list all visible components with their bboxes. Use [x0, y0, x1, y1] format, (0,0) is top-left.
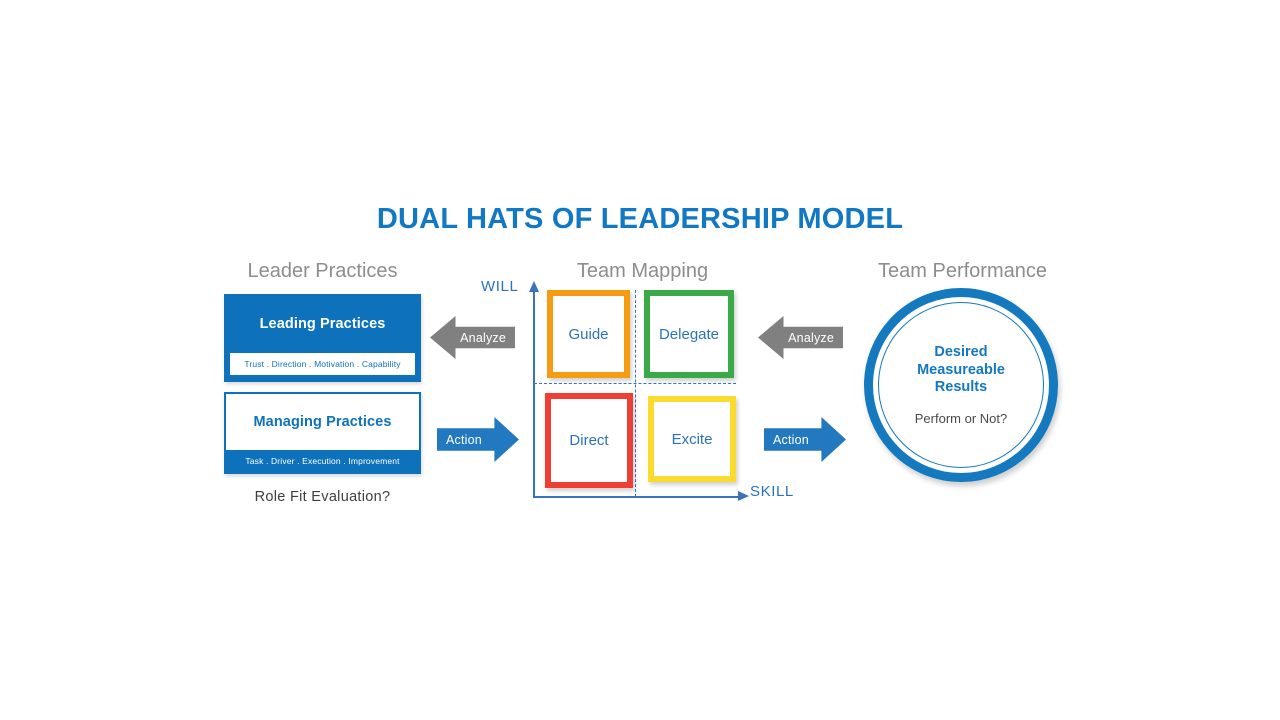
card-managing-practices[interactable]: Managing Practices Task . Driver . Execu… [224, 392, 421, 474]
leading-practices-subtitle: Trust . Direction . Motivation . Capabil… [230, 353, 415, 375]
will-axis-arrowhead-icon [529, 281, 539, 292]
card-leading-practices[interactable]: Leading Practices Trust . Direction . Mo… [224, 294, 421, 382]
managing-practices-subtitle: Task . Driver . Execution . Improvement [226, 450, 419, 472]
results-text-group: Desired Measureable Results Perform or N… [873, 297, 1049, 473]
section-header-leader-practices: Leader Practices [200, 260, 445, 283]
axis-label-skill: SKILL [750, 483, 794, 500]
skill-axis-arrowhead-icon [738, 491, 749, 501]
arrow-analyze-right[interactable]: Analyze [758, 316, 843, 359]
desired-results-heading: Desired Measureable Results [917, 344, 1005, 397]
quadrant-excite[interactable]: Excite [648, 396, 736, 482]
quadrant-guide[interactable]: Guide [547, 290, 630, 378]
arrow-action-right[interactable]: Action [764, 417, 846, 462]
matrix-vertical-divider [635, 290, 636, 497]
will-axis-line [533, 292, 535, 497]
perform-or-not-question: Perform or Not? [915, 411, 1007, 426]
page-title: DUAL HATS OF LEADERSHIP MODEL [0, 203, 1280, 236]
axis-label-will: WILL [481, 278, 518, 295]
arrow-analyze-left[interactable]: Analyze [430, 316, 515, 359]
quadrant-delegate[interactable]: Delegate [644, 290, 734, 378]
quadrant-direct[interactable]: Direct [545, 393, 633, 488]
leading-practices-title: Leading Practices [225, 295, 420, 353]
section-header-team-performance: Team Performance [840, 260, 1085, 283]
slide-canvas: DUAL HATS OF LEADERSHIP MODEL Leader Pra… [0, 0, 1280, 720]
skill-axis-line [533, 496, 741, 498]
section-header-team-mapping: Team Mapping [520, 260, 765, 283]
managing-practices-title: Managing Practices [226, 394, 419, 450]
desired-results-circle[interactable]: Desired Measureable Results Perform or N… [864, 288, 1058, 482]
role-fit-evaluation-note: Role Fit Evaluation? [200, 489, 445, 505]
arrow-action-left[interactable]: Action [437, 417, 519, 462]
